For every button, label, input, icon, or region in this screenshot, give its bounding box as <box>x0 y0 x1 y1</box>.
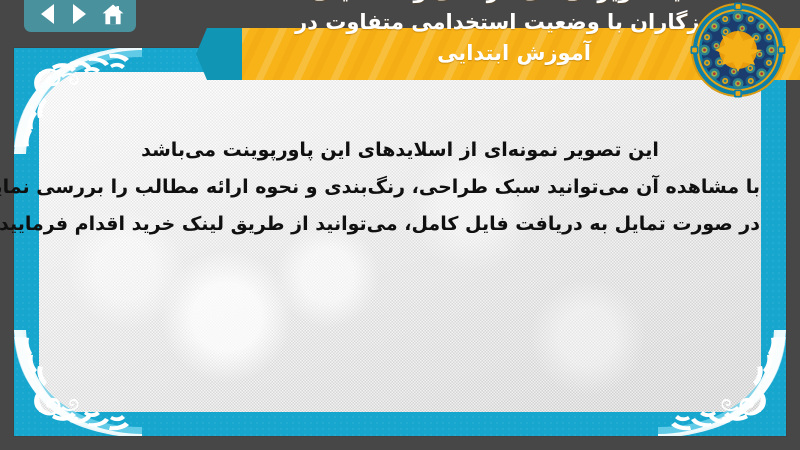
forward-button[interactable] <box>67 2 93 26</box>
back-button[interactable] <box>34 2 60 26</box>
circular-mandala-medallion-icon <box>690 2 786 98</box>
home-icon <box>102 4 124 25</box>
triangle-right-icon <box>73 4 86 24</box>
body-line-2: با مشاهده آن می‌توانید سبک طراحی، رنگ‌بن… <box>40 169 760 206</box>
body-line-1: این تصویر نمونه‌ای از اسلایدهای این پاور… <box>40 132 760 169</box>
slide-canvas: این تصویر نمونه‌ای از اسلایدهای این پاور… <box>0 0 800 450</box>
triangle-left-icon <box>41 4 54 24</box>
body-line-3: در صورت تمایل به دریافت فایل کامل، می‌تو… <box>40 206 760 243</box>
navigation-toolbar[interactable] <box>24 0 136 32</box>
slide-body-text: این تصویر نمونه‌ای از اسلایدهای این پاور… <box>40 132 760 243</box>
home-button[interactable] <box>100 2 126 26</box>
